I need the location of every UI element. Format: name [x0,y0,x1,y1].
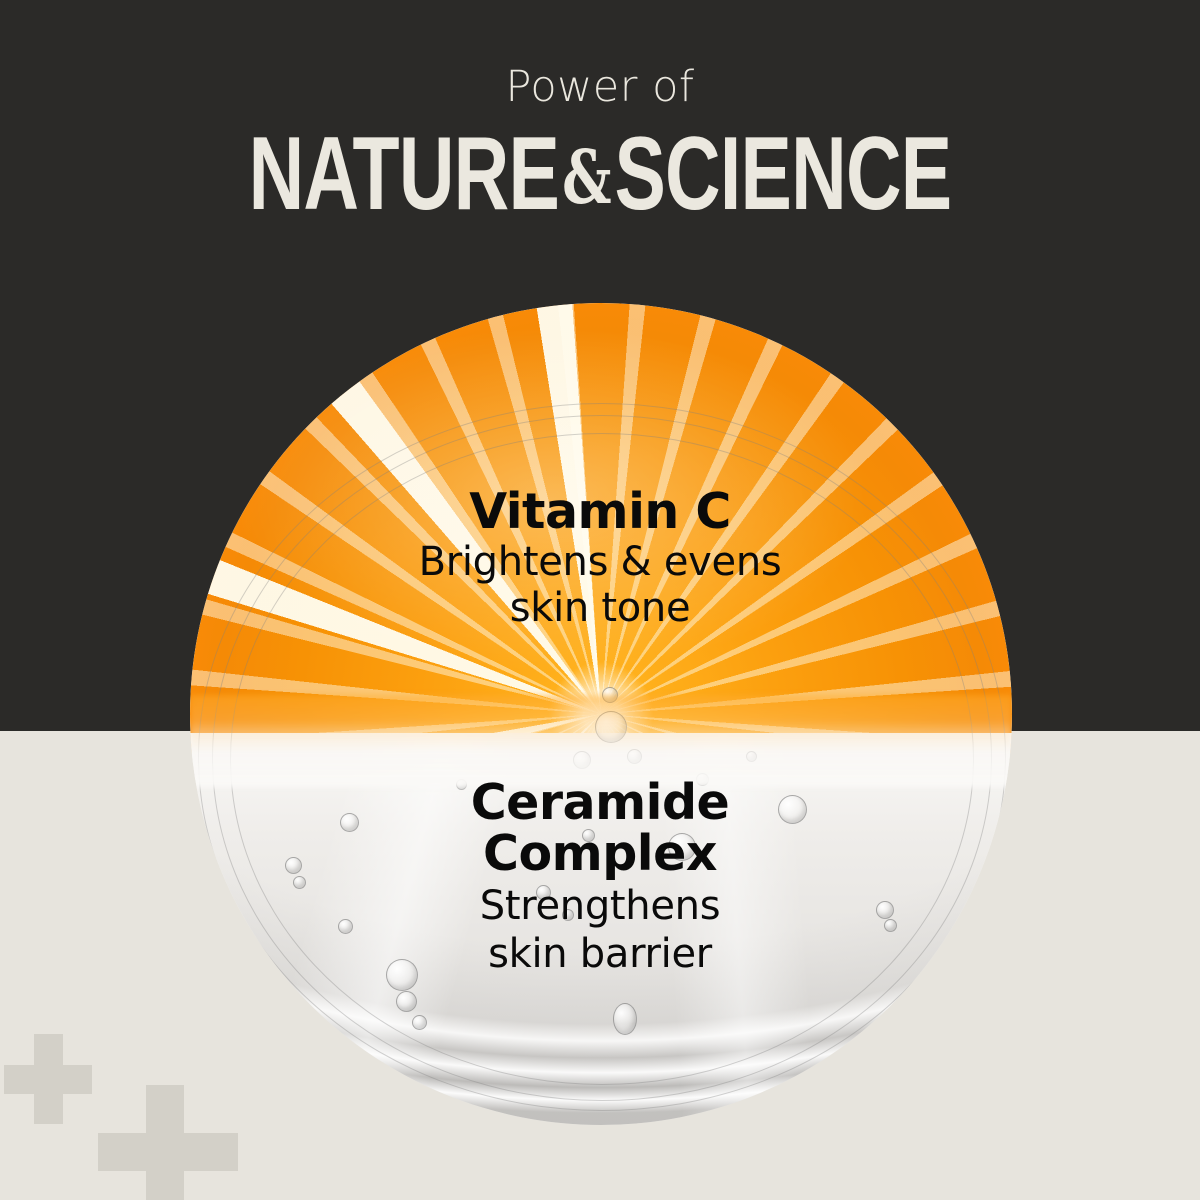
ingredient-name-line2: Complex [0,829,1200,880]
title-ampersand: & [559,135,614,221]
ingredient-name-line1: Ceramide [0,778,1200,829]
poster-canvas: Power of NATURE&SCIENCE [0,0,1200,1200]
ingredient-benefit-line2: skin barrier [0,934,1200,976]
ingredient-benefit-line1: Brightens & evens [0,542,1200,584]
ingredient-benefit-line2: skin tone [0,588,1200,630]
title-word-science: SCIENCE [614,116,951,232]
headline-group: Power of NATURE&SCIENCE [0,0,1200,226]
page-title: NATURE&SCIENCE [156,122,1044,226]
ingredient-benefit-line1: Strengthens [0,886,1200,928]
ingredient-block-ceramide-complex: Ceramide Complex Strengthens skin barrie… [0,778,1200,975]
eyebrow-text: Power of [0,66,1200,109]
product-disc-image [190,303,1012,1125]
plus-icon [4,1034,92,1124]
title-word-nature: NATURE [249,116,560,232]
ingredient-block-vitamin-c: Vitamin C Brightens & evens skin tone [0,487,1200,629]
ingredient-name: Vitamin C [0,487,1200,538]
